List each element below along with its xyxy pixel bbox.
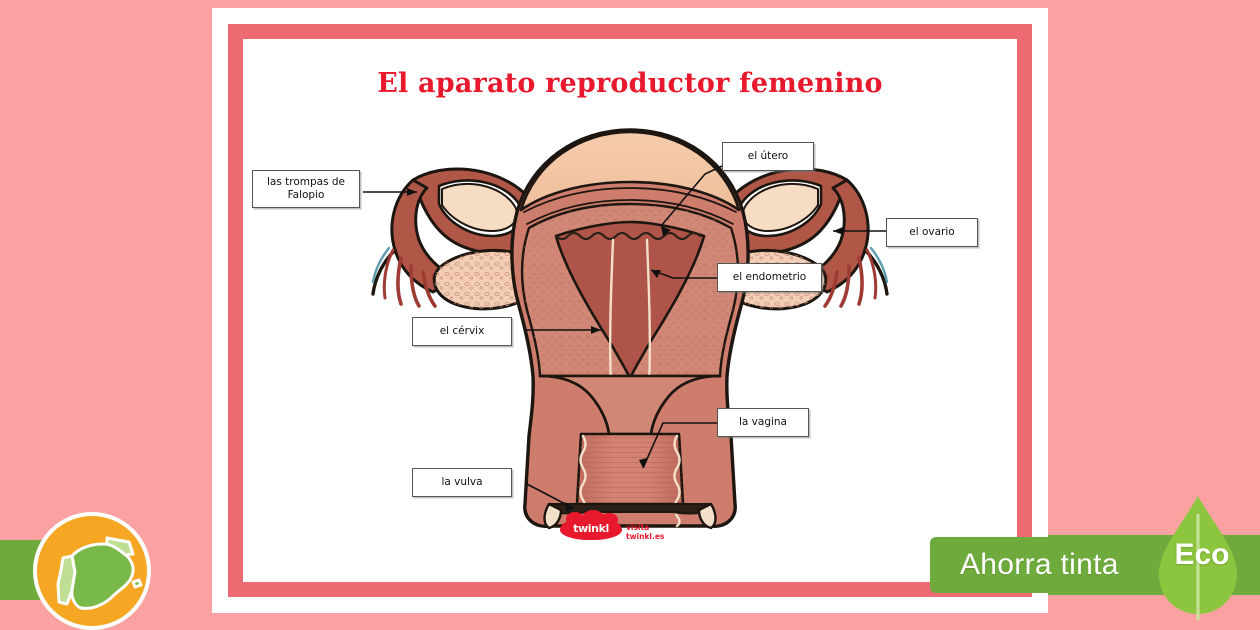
- eco-leaf-icon: [1155, 492, 1241, 624]
- female-reproductive-system-diagram: [243, 100, 1017, 530]
- spain-map-icon: [45, 532, 145, 616]
- page-title: El aparato reproductor femenino: [243, 68, 1017, 99]
- label-vagina[interactable]: la vagina: [717, 408, 809, 437]
- label-cervix-text: el cérvix: [440, 325, 485, 338]
- label-fallopian-tubes-line2: Falopio: [288, 189, 325, 202]
- label-endometrium-text: el endometrio: [733, 271, 806, 284]
- label-uterus-text: el útero: [748, 150, 788, 163]
- label-vulva[interactable]: la vulva: [412, 468, 512, 497]
- spain-map-badge: [33, 512, 151, 630]
- label-ovary[interactable]: el ovario: [886, 218, 978, 247]
- label-uterus[interactable]: el útero: [722, 142, 814, 171]
- label-fallopian-tubes-line1: las trompas de: [267, 176, 345, 189]
- twinkl-visit-url: visita twinkl.es: [626, 523, 690, 541]
- label-ovary-text: el ovario: [909, 226, 954, 239]
- save-ink-label: Ahorra tinta: [960, 548, 1119, 582]
- twinkl-logo[interactable]: twinkl visita twinkl.es: [560, 515, 690, 541]
- twinkl-wordmark: twinkl: [560, 516, 622, 540]
- label-vulva-text: la vulva: [441, 476, 482, 489]
- label-vagina-text: la vagina: [739, 416, 787, 429]
- label-endometrium[interactable]: el endometrio: [717, 263, 822, 292]
- label-cervix[interactable]: el cérvix: [412, 317, 512, 346]
- label-fallopian-tubes[interactable]: las trompas de Falopio: [252, 170, 360, 208]
